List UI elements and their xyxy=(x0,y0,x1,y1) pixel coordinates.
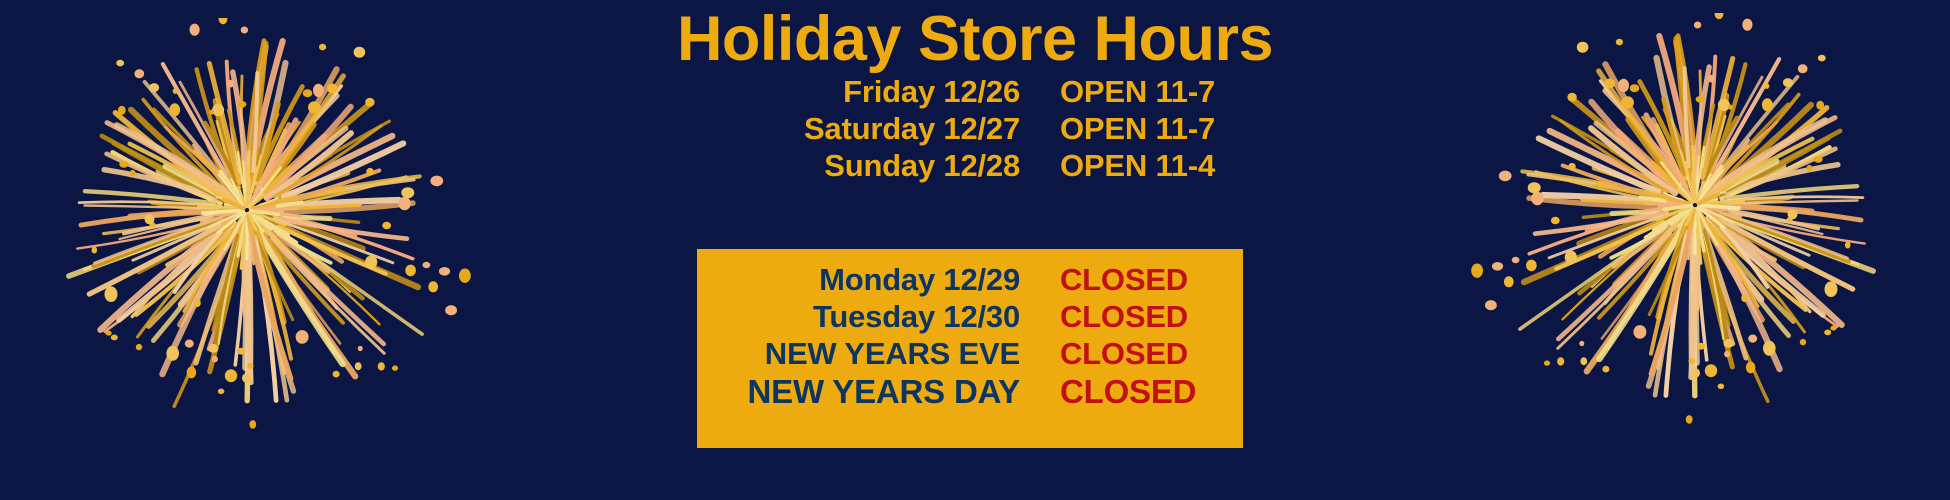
hours-day-label: NEW YEARS EVE xyxy=(450,336,1020,372)
hours-day-label: NEW YEARS DAY xyxy=(450,373,1020,411)
hours-day-label: Saturday 12/27 xyxy=(450,111,1020,147)
holiday-hours-banner: Holiday Store Hours Friday 12/26 OPEN 11… xyxy=(0,0,1950,500)
hours-row: Monday 12/29 CLOSED xyxy=(450,262,1500,299)
status-badge: CLOSED xyxy=(1020,373,1440,411)
hours-day-label: Sunday 12/28 xyxy=(450,148,1020,184)
closed-days-panel: Monday 12/29 CLOSED Tuesday 12/30 CLOSED… xyxy=(697,249,1243,448)
status-badge: CLOSED xyxy=(1020,262,1440,298)
hours-row: Friday 12/26 OPEN 11-7 xyxy=(450,74,1500,111)
open-hours-list: Friday 12/26 OPEN 11-7 Saturday 12/27 OP… xyxy=(450,74,1500,185)
hours-status-label: OPEN 11-7 xyxy=(1020,111,1440,147)
hours-status-label: OPEN 11-7 xyxy=(1020,74,1440,110)
hours-day-label: Tuesday 12/30 xyxy=(450,299,1020,335)
hours-day-label: Monday 12/29 xyxy=(450,262,1020,298)
hours-row: NEW YEARS DAY CLOSED xyxy=(450,373,1500,410)
hours-row: NEW YEARS EVE CLOSED xyxy=(450,336,1500,373)
closed-hours-list: Monday 12/29 CLOSED Tuesday 12/30 CLOSED… xyxy=(450,262,1500,410)
hours-row: Saturday 12/27 OPEN 11-7 xyxy=(450,111,1500,148)
hours-status-label: OPEN 11-4 xyxy=(1020,148,1440,184)
hours-row: Sunday 12/28 OPEN 11-4 xyxy=(450,148,1500,185)
hours-day-label: Friday 12/26 xyxy=(450,74,1020,110)
page-title: Holiday Store Hours xyxy=(0,6,1950,72)
status-badge: CLOSED xyxy=(1020,299,1440,335)
status-badge: CLOSED xyxy=(1020,336,1440,372)
hours-row: Tuesday 12/30 CLOSED xyxy=(450,299,1500,336)
